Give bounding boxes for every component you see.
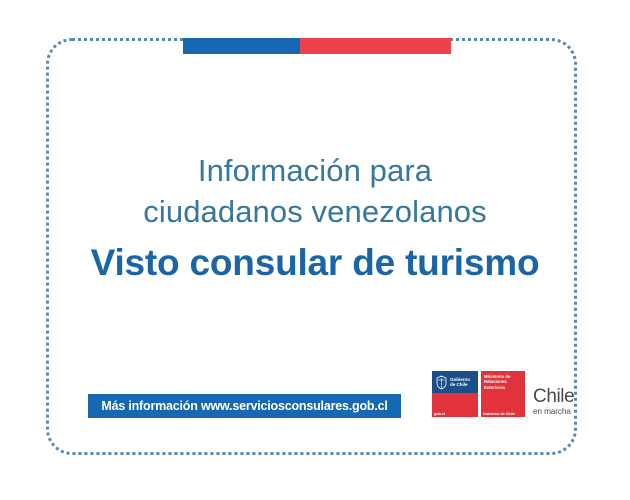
government-logo-lockup: Gobierno de Chile gob.cl Ministerio de R… [432,371,574,417]
chile-en-marcha-mark: Chile en marcha [533,371,574,425]
gobierno-logo-header: Gobierno de Chile [432,371,478,393]
flag-red-segment [300,38,451,54]
flag-blue-segment [183,38,300,54]
ministerio-logo-label: Ministerio de Relaciones Exteriores [484,374,510,390]
chile-wordmark: Chile [533,387,574,406]
ministerio-relaciones-exteriores-logo: Ministerio de Relaciones Exteriores Gobi… [481,371,525,417]
chile-coat-of-arms-icon [435,375,448,390]
chile-flag-bar [183,38,451,54]
headline-block: Información para ciudadanos venezolanos … [0,150,630,289]
ministerio-logo-header: Ministerio de Relaciones Exteriores [481,371,525,393]
more-info-text: Más información www.serviciosconsulares.… [101,399,387,413]
headline-line-2: ciudadanos venezolanos [0,191,630,232]
chile-tagline: en marcha [533,407,574,417]
gobierno-logo-body: gob.cl [432,393,478,417]
gobierno-footer-tag: gob.cl [434,412,445,416]
ministerio-label-line-3: Exteriores [484,385,505,390]
poster-canvas: Información para ciudadanos venezolanos … [0,0,630,500]
gobierno-label-line-2: de Chile [450,382,467,387]
headline-line-1: Información para [0,150,630,191]
gobierno-logo-label: Gobierno de Chile [450,377,470,388]
ministerio-footer-tag: Gobierno de Chile [483,412,515,416]
headline-title: Visto consular de turismo [0,237,630,289]
ministerio-logo-body: Gobierno de Chile [481,393,525,417]
more-info-bar[interactable]: Más información www.serviciosconsulares.… [88,394,401,418]
gobierno-label-line-1: Gobierno [450,377,470,382]
gobierno-de-chile-logo: Gobierno de Chile gob.cl [432,371,478,417]
